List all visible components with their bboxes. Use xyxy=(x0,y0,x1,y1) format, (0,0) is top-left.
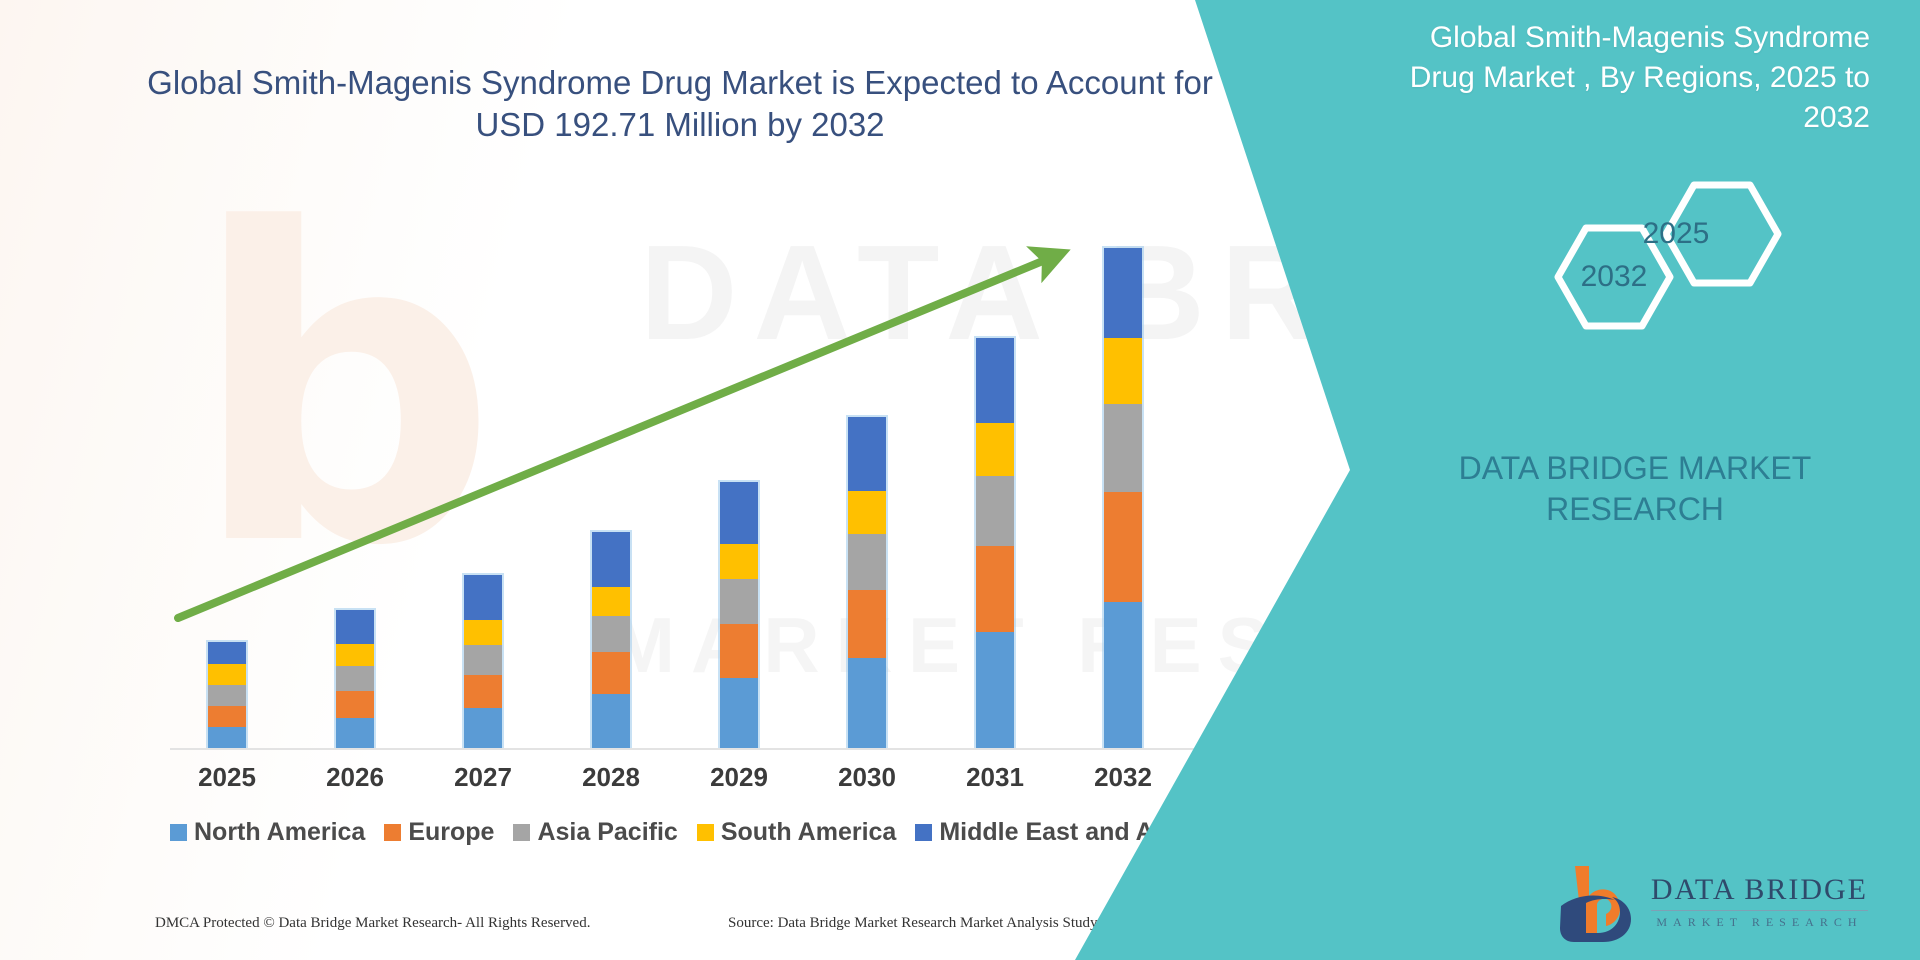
legend-swatch-icon xyxy=(697,824,714,841)
bar-segment-south-america-2031 xyxy=(976,423,1014,476)
bar-segment-asia-pacific-2031 xyxy=(976,476,1014,546)
bar-segment-south-america-2028 xyxy=(592,587,630,616)
bar-segment-south-america-2027 xyxy=(464,620,502,645)
bar-2031 xyxy=(976,338,1014,748)
bar-2032 xyxy=(1104,248,1142,748)
bar-segment-europe-2025 xyxy=(208,706,246,727)
bar-segment-europe-2030 xyxy=(848,590,886,658)
x-axis-label-2027: 2027 xyxy=(443,762,523,793)
brand-name-line-2: RESEARCH xyxy=(1546,491,1724,527)
bar-segment-asia-pacific-2025 xyxy=(208,685,246,706)
x-axis-label-2031: 2031 xyxy=(955,762,1035,793)
legend-item-asia-pacific[interactable]: Asia Pacific xyxy=(513,818,677,847)
bar-segment-asia-pacific-2027 xyxy=(464,645,502,675)
bar-segment-middle-east-and-africa-2032 xyxy=(1104,248,1142,338)
legend-label: Asia Pacific xyxy=(537,818,677,847)
x-axis-label-2026: 2026 xyxy=(315,762,395,793)
plot-area xyxy=(170,230,1230,750)
regions-panel-title: Global Smith-Magenis Syndrome Drug Marke… xyxy=(1400,18,1870,138)
bar-2025 xyxy=(208,642,246,748)
bar-2027 xyxy=(464,575,502,748)
legend-swatch-icon xyxy=(384,824,401,841)
bar-segment-north-america-2028 xyxy=(592,694,630,748)
bar-segment-europe-2029 xyxy=(720,624,758,678)
bar-segment-asia-pacific-2032 xyxy=(1104,404,1142,492)
bar-segment-middle-east-and-africa-2026 xyxy=(336,610,374,644)
bar-segment-north-america-2027 xyxy=(464,708,502,748)
x-axis-label-2032: 2032 xyxy=(1083,762,1163,793)
bar-segment-north-america-2026 xyxy=(336,718,374,748)
bar-segment-middle-east-and-africa-2028 xyxy=(592,532,630,587)
bar-segment-north-america-2031 xyxy=(976,632,1014,748)
x-axis-label-2029: 2029 xyxy=(699,762,779,793)
legend-label: South America xyxy=(721,818,897,847)
bar-segment-north-america-2025 xyxy=(208,727,246,748)
bar-segment-europe-2027 xyxy=(464,675,502,708)
bar-segment-asia-pacific-2030 xyxy=(848,534,886,590)
x-axis: 20252026202720282029203020312032 xyxy=(170,762,1200,802)
legend-swatch-icon xyxy=(513,824,530,841)
year-hexagon-group: 2025 2032 xyxy=(1528,172,1808,357)
bar-segment-asia-pacific-2028 xyxy=(592,616,630,652)
legend-item-north-america[interactable]: North America xyxy=(170,818,365,847)
bar-segment-south-america-2030 xyxy=(848,491,886,534)
axis-baseline xyxy=(170,748,1200,750)
bar-segment-north-america-2029 xyxy=(720,678,758,748)
x-axis-label-2025: 2025 xyxy=(187,762,267,793)
bar-segment-europe-2026 xyxy=(336,691,374,718)
bar-2029 xyxy=(720,482,758,748)
bar-segment-middle-east-and-africa-2027 xyxy=(464,575,502,620)
hexagon-label-2025: 2025 xyxy=(1636,217,1716,251)
data-bridge-logo-mark xyxy=(1559,860,1637,942)
bar-2028 xyxy=(592,532,630,748)
footer-dmca-notice: DMCA Protected © Data Bridge Market Rese… xyxy=(155,915,590,932)
hexagon-label-2032: 2032 xyxy=(1528,260,1700,294)
bar-segment-middle-east-and-africa-2029 xyxy=(720,482,758,544)
bar-2026 xyxy=(336,610,374,748)
bar-segment-south-america-2025 xyxy=(208,664,246,685)
legend-item-europe[interactable]: Europe xyxy=(384,818,494,847)
bar-segment-middle-east-and-africa-2025 xyxy=(208,642,246,664)
brand-name-line-1: DATA BRIDGE MARKET xyxy=(1459,450,1812,486)
bar-segment-middle-east-and-africa-2031 xyxy=(976,338,1014,423)
bar-segment-south-america-2032 xyxy=(1104,338,1142,404)
chart-title: Global Smith-Magenis Syndrome Drug Marke… xyxy=(120,62,1240,146)
bar-segment-north-america-2030 xyxy=(848,658,886,748)
footer-source-note: Source: Data Bridge Market Research Mark… xyxy=(728,915,1131,932)
bar-segment-south-america-2026 xyxy=(336,644,374,666)
legend-label: Europe xyxy=(408,818,494,847)
bar-segment-asia-pacific-2026 xyxy=(336,666,374,691)
legend-label: North America xyxy=(194,818,365,847)
legend-item-south-america[interactable]: South America xyxy=(697,818,897,847)
chart-legend: North AmericaEuropeAsia PacificSouth Ame… xyxy=(170,818,1210,847)
bar-segment-north-america-2032 xyxy=(1104,602,1142,748)
bar-2030 xyxy=(848,417,886,748)
x-axis-label-2028: 2028 xyxy=(571,762,651,793)
x-axis-label-2030: 2030 xyxy=(827,762,907,793)
logo-subtitle: MARKET RESEARCH xyxy=(1651,915,1868,930)
bar-segment-europe-2032 xyxy=(1104,492,1142,602)
brand-name-block: DATA BRIDGE MARKET RESEARCH xyxy=(1400,448,1870,530)
logo-title: DATA BRIDGE xyxy=(1651,873,1868,911)
brand-logo: DATA BRIDGE MARKET RESEARCH xyxy=(1559,860,1868,942)
bar-segment-middle-east-and-africa-2030 xyxy=(848,417,886,491)
bar-segment-europe-2028 xyxy=(592,652,630,694)
bar-segment-asia-pacific-2029 xyxy=(720,579,758,624)
legend-swatch-icon xyxy=(915,824,932,841)
legend-swatch-icon xyxy=(170,824,187,841)
growth-trend-arrow xyxy=(170,230,1230,750)
bar-segment-south-america-2029 xyxy=(720,544,758,579)
bar-segment-europe-2031 xyxy=(976,546,1014,632)
